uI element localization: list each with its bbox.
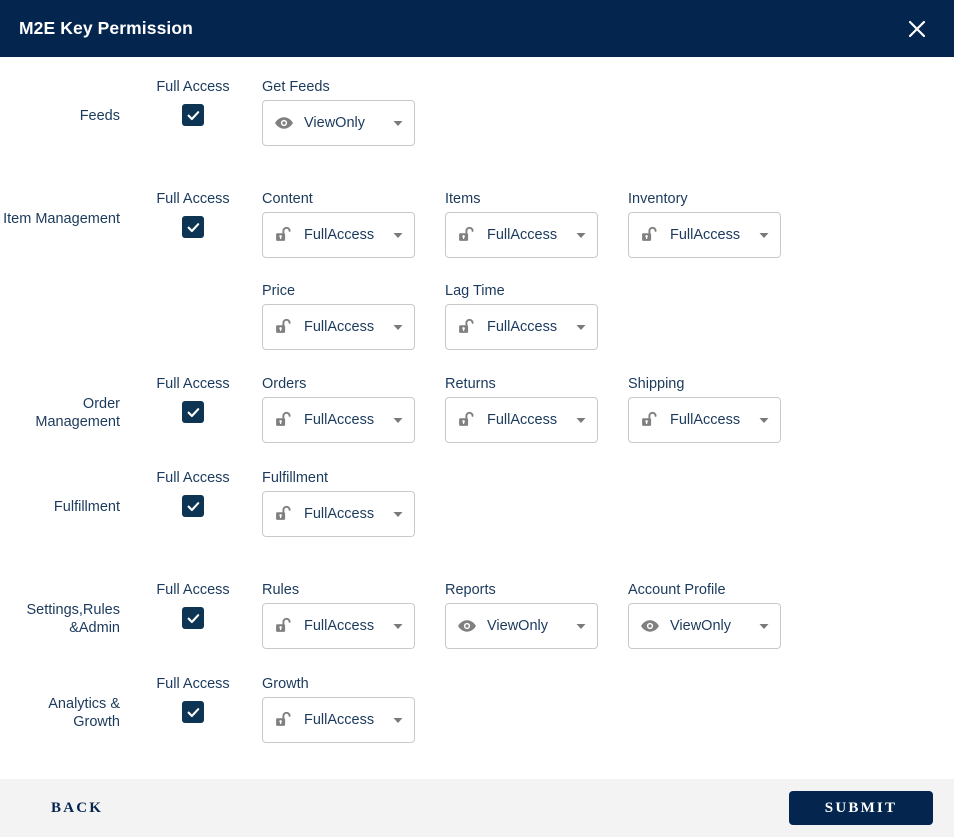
eye-icon [640, 616, 660, 636]
permission-field-label: Items [445, 191, 598, 208]
unlock-icon [640, 410, 660, 430]
permission-field: PriceFullAccess [262, 283, 415, 350]
unlock-icon [457, 225, 477, 245]
unlock-icon [274, 225, 294, 245]
modal-title: M2E Key Permission [19, 20, 193, 38]
unlock-icon [457, 317, 477, 337]
full-access-cell: Full Access [147, 470, 239, 517]
permission-field-label: Lag Time [445, 283, 598, 300]
unlock-icon [274, 710, 294, 730]
permission-row-label: Feeds [0, 107, 120, 125]
permission-select-value: FullAccess [660, 227, 756, 243]
permission-field: InventoryFullAccess [628, 191, 781, 258]
permission-field-label: Reports [445, 582, 598, 599]
full-access-cell: Full Access [147, 79, 239, 126]
permission-field: RulesFullAccess [262, 582, 415, 649]
full-access-checkbox[interactable] [182, 495, 204, 517]
modal-header: M2E Key Permission [0, 0, 954, 57]
permission-row-label: Order Management [0, 395, 120, 431]
chevron-down-icon[interactable] [390, 412, 406, 428]
permission-field: OrdersFullAccess [262, 376, 415, 443]
permission-field-label: Returns [445, 376, 598, 393]
permission-field: ContentFullAccess [262, 191, 415, 258]
permission-field-label: Fulfillment [262, 470, 415, 487]
permission-field: Lag TimeFullAccess [445, 283, 598, 350]
permission-field: ReturnsFullAccess [445, 376, 598, 443]
permission-row-label: Settings,Rules &Admin [0, 601, 120, 637]
full-access-checkbox[interactable] [182, 104, 204, 126]
full-access-label: Full Access [147, 79, 239, 95]
chevron-down-icon[interactable] [390, 712, 406, 728]
permission-select[interactable]: FullAccess [445, 212, 598, 258]
permission-select-value: FullAccess [477, 227, 573, 243]
permission-row-label: Item Management [0, 210, 120, 228]
permission-field: ShippingFullAccess [628, 376, 781, 443]
full-access-cell: Full Access [147, 582, 239, 629]
permission-field: Account ProfileViewOnly [628, 582, 781, 649]
unlock-icon [274, 504, 294, 524]
permission-select-value: FullAccess [294, 712, 390, 728]
permission-select-value: FullAccess [660, 412, 756, 428]
permission-select-value: ViewOnly [477, 618, 573, 634]
chevron-down-icon[interactable] [573, 412, 589, 428]
close-icon[interactable] [902, 14, 932, 44]
permission-select-value: FullAccess [294, 618, 390, 634]
permission-select[interactable]: ViewOnly [262, 100, 415, 146]
permission-field-label: Shipping [628, 376, 781, 393]
chevron-down-icon[interactable] [390, 319, 406, 335]
full-access-checkbox[interactable] [182, 401, 204, 423]
permission-select-value: FullAccess [477, 412, 573, 428]
m2e-key-permission-modal: M2E Key Permission FeedsFull AccessGet F… [0, 0, 954, 837]
unlock-icon [274, 410, 294, 430]
permission-field-label: Get Feeds [262, 79, 415, 96]
full-access-checkbox[interactable] [182, 701, 204, 723]
submit-button[interactable]: SUBMIT [789, 791, 933, 825]
permission-select-value: FullAccess [294, 319, 390, 335]
chevron-down-icon[interactable] [756, 227, 772, 243]
chevron-down-icon[interactable] [390, 115, 406, 131]
permission-select[interactable]: FullAccess [262, 491, 415, 537]
permission-field: ReportsViewOnly [445, 582, 598, 649]
permission-select[interactable]: FullAccess [262, 212, 415, 258]
permissions-body: FeedsFull AccessGet FeedsViewOnlyItem Ma… [0, 57, 954, 779]
full-access-label: Full Access [147, 470, 239, 486]
full-access-checkbox[interactable] [182, 607, 204, 629]
eye-icon [457, 616, 477, 636]
permission-field-label: Orders [262, 376, 415, 393]
chevron-down-icon[interactable] [390, 506, 406, 522]
unlock-icon [274, 317, 294, 337]
unlock-icon [640, 225, 660, 245]
permission-field-label: Content [262, 191, 415, 208]
permission-row-label: Analytics & Growth [0, 695, 120, 731]
chevron-down-icon[interactable] [573, 618, 589, 634]
chevron-down-icon[interactable] [390, 618, 406, 634]
permission-select[interactable]: ViewOnly [628, 603, 781, 649]
permission-select-value: ViewOnly [660, 618, 756, 634]
permission-select[interactable]: ViewOnly [445, 603, 598, 649]
full-access-cell: Full Access [147, 376, 239, 423]
permission-field-label: Account Profile [628, 582, 781, 599]
permission-field: ItemsFullAccess [445, 191, 598, 258]
eye-icon [274, 113, 294, 133]
chevron-down-icon[interactable] [756, 412, 772, 428]
permission-field-label: Growth [262, 676, 415, 693]
full-access-label: Full Access [147, 676, 239, 692]
permission-select[interactable]: FullAccess [445, 397, 598, 443]
permission-select[interactable]: FullAccess [262, 603, 415, 649]
permission-select-value: FullAccess [477, 319, 573, 335]
chevron-down-icon[interactable] [390, 227, 406, 243]
full-access-checkbox[interactable] [182, 216, 204, 238]
unlock-icon [457, 410, 477, 430]
full-access-cell: Full Access [147, 191, 239, 238]
permission-select-value: ViewOnly [294, 115, 390, 131]
permission-select[interactable]: FullAccess [445, 304, 598, 350]
chevron-down-icon[interactable] [756, 618, 772, 634]
permission-select[interactable]: FullAccess [262, 397, 415, 443]
full-access-cell: Full Access [147, 676, 239, 723]
permission-field-label: Inventory [628, 191, 781, 208]
modal-footer: BACK SUBMIT [0, 779, 954, 837]
permission-field: GrowthFullAccess [262, 676, 415, 743]
full-access-label: Full Access [147, 376, 239, 392]
full-access-label: Full Access [147, 582, 239, 598]
permission-field: Get FeedsViewOnly [262, 79, 415, 146]
permission-select[interactable]: FullAccess [628, 397, 781, 443]
permission-field-label: Rules [262, 582, 415, 599]
permission-select-value: FullAccess [294, 506, 390, 522]
unlock-icon [274, 616, 294, 636]
permission-select[interactable]: FullAccess [628, 212, 781, 258]
permission-row-label: Fulfillment [0, 498, 120, 516]
permission-field-label: Price [262, 283, 415, 300]
chevron-down-icon[interactable] [573, 227, 589, 243]
full-access-label: Full Access [147, 191, 239, 207]
permission-select[interactable]: FullAccess [262, 304, 415, 350]
permission-select-value: FullAccess [294, 227, 390, 243]
permission-select-value: FullAccess [294, 412, 390, 428]
chevron-down-icon[interactable] [573, 319, 589, 335]
back-button[interactable]: BACK [47, 794, 107, 823]
permission-field: FulfillmentFullAccess [262, 470, 415, 537]
permission-select[interactable]: FullAccess [262, 697, 415, 743]
